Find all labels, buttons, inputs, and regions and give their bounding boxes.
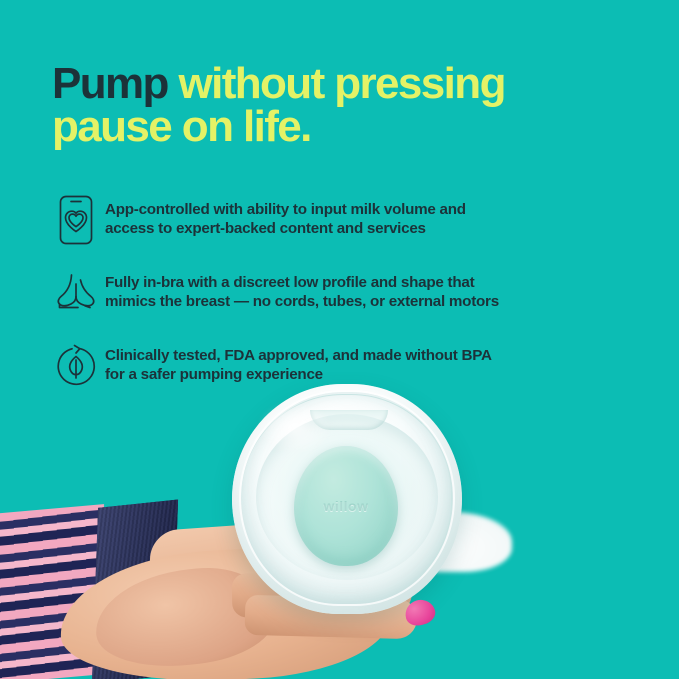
brand-emboss: willow <box>294 498 398 514</box>
headline-word-pump: Pump <box>52 59 168 108</box>
breast-pump-device: willow <box>232 384 462 614</box>
feature-line: Fully in-bra with a discreet low profile… <box>105 273 627 292</box>
device-highlight <box>258 402 332 454</box>
feature-text-app-controlled: App-controlled with ability to input mil… <box>105 192 627 239</box>
device-mint-control-panel[interactable]: willow <box>294 446 398 566</box>
feature-line: mimics the breast — no cords, tubes, or … <box>105 292 627 311</box>
page-title: Pump without pressingpause on life. <box>52 62 642 148</box>
feature-item-app-controlled: App-controlled with ability to input mil… <box>47 192 627 248</box>
feature-line: Clinically tested, FDA approved, and mad… <box>105 346 627 365</box>
feature-line: App-controlled with ability to input mil… <box>105 200 627 219</box>
product-ad-canvas: Pump without pressingpause on life. App-… <box>0 0 679 679</box>
headline-accent-line-1: without pressing <box>168 59 505 108</box>
feature-line: access to expert-backed content and serv… <box>105 219 627 238</box>
bra-icon <box>47 265 105 321</box>
product-photo: willow <box>0 372 679 679</box>
feature-text-in-bra: Fully in-bra with a discreet low profile… <box>105 265 627 312</box>
phone-heart-icon <box>47 192 105 248</box>
headline-accent-line-2: pause on life. <box>52 102 311 151</box>
feature-item-in-bra: Fully in-bra with a discreet low profile… <box>47 265 627 321</box>
